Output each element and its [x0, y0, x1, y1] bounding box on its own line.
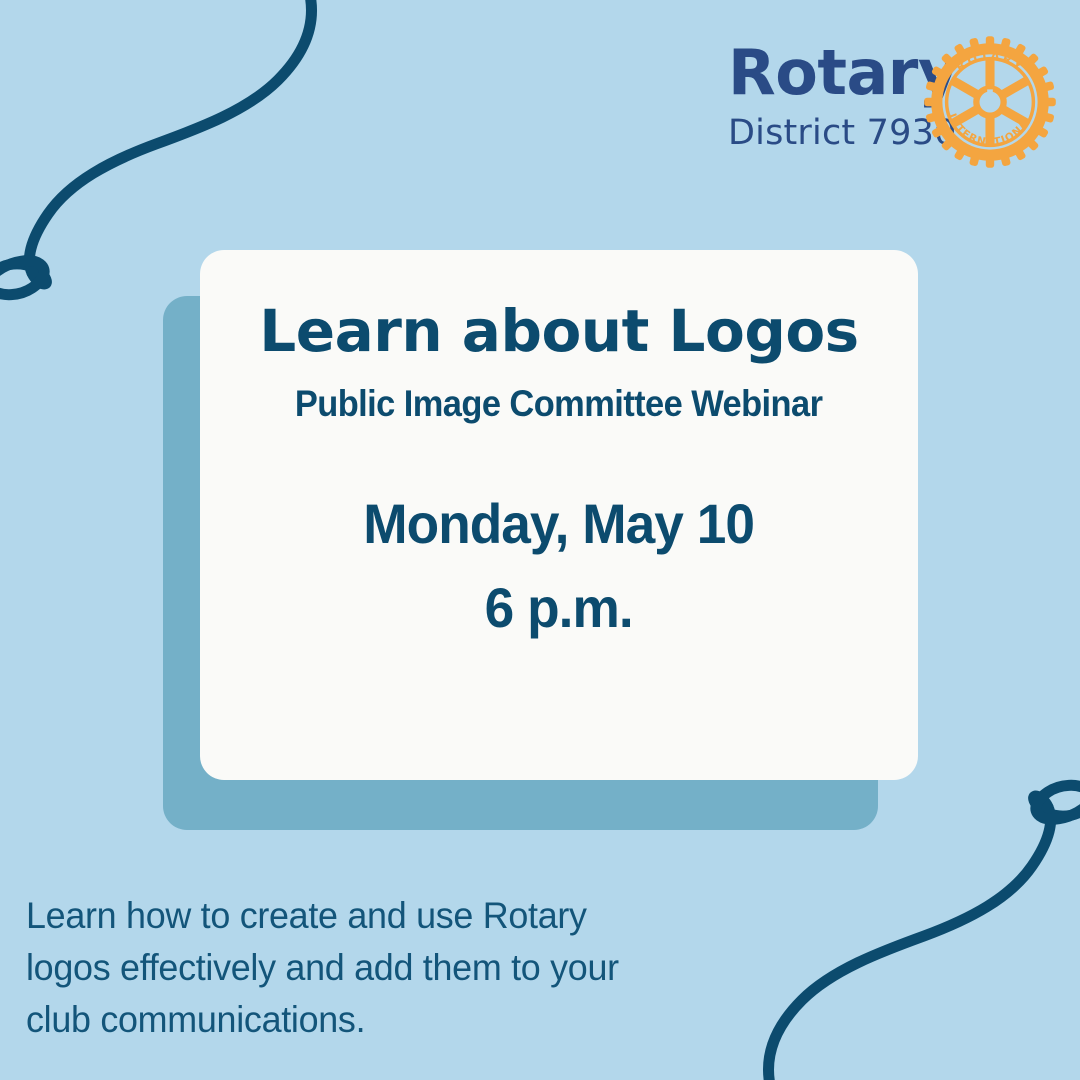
event-subtitle: Public Image Committee Webinar: [295, 382, 823, 426]
event-datetime-block: Monday, May 10 6 p.m.: [353, 482, 764, 650]
event-card: Learn about Logos Public Image Committee…: [200, 250, 918, 780]
poster-canvas: Rotary District 7930: [0, 0, 1080, 1080]
description-line: Learn how to create and use Rotary: [26, 890, 763, 942]
description-line: logos effectively and add them to your: [26, 942, 763, 994]
rotary-district-label: District 7930: [728, 112, 908, 154]
rotary-wordmark-block: Rotary District 7930: [728, 38, 908, 154]
description-line: club communications.: [26, 994, 763, 1046]
rotary-wordmark: Rotary: [728, 38, 908, 108]
event-date: Monday, May 10: [364, 482, 755, 566]
event-time: 6 p.m.: [364, 566, 755, 650]
rotary-logo-lockup: Rotary District 7930: [735, 38, 1060, 178]
rotary-wheel-icon: ROTARY INTERNATIONAL: [920, 32, 1060, 172]
event-description: Learn how to create and use Rotary logos…: [26, 890, 786, 1046]
event-title: Learn about Logos: [259, 298, 858, 364]
